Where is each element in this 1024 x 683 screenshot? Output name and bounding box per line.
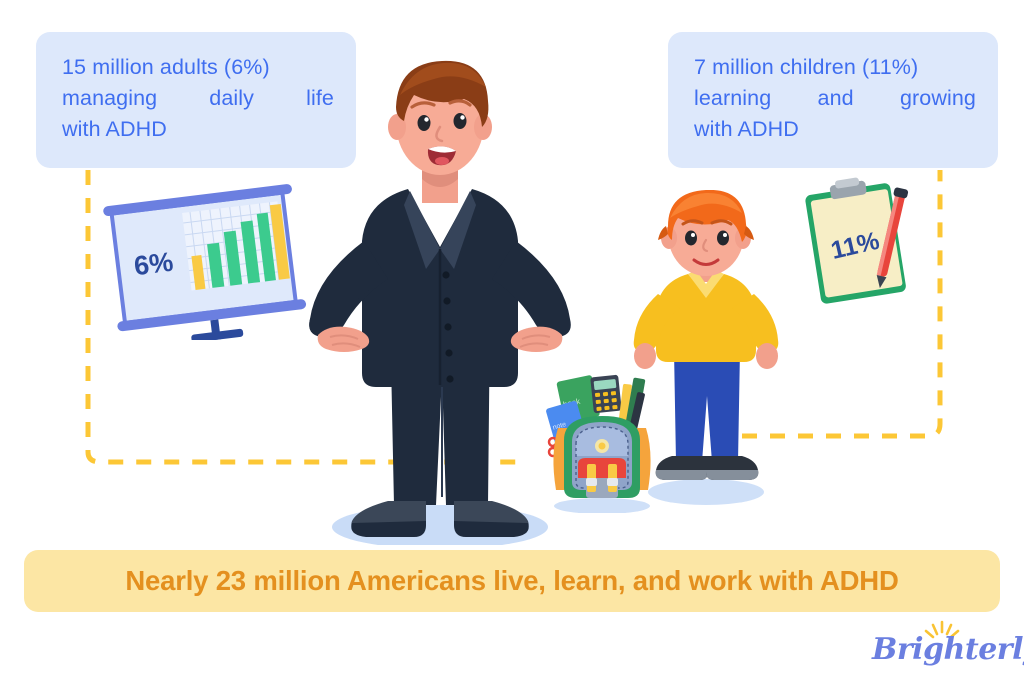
adult-figure: [300, 45, 580, 545]
backpack: book note: [542, 368, 662, 513]
infographic-canvas: 15 million adults (6%) managing daily li…: [0, 0, 1024, 683]
callout-children-line2: learning and growing: [694, 83, 976, 114]
callout-children: 7 million children (11%) learning and gr…: [668, 32, 998, 168]
callout-adults-line1: 15 million adults (6%): [62, 52, 334, 83]
logo-wordmark: Brighterly: [872, 632, 1012, 667]
clipboard: 11%: [795, 175, 935, 315]
summary-banner-text: Nearly 23 million Americans live, learn,…: [125, 565, 898, 597]
summary-banner: Nearly 23 million Americans live, learn,…: [24, 550, 1000, 612]
presentation-board: 6%: [100, 180, 320, 340]
callout-children-line3: with ADHD: [694, 114, 976, 145]
callout-adults-line3: with ADHD: [62, 114, 334, 145]
board-stat-label: 6%: [132, 247, 174, 282]
brighterly-logo: Brighterly: [872, 618, 1012, 674]
callout-children-line1: 7 million children (11%): [694, 52, 976, 83]
callout-adults-line2: managing daily life: [62, 83, 334, 114]
